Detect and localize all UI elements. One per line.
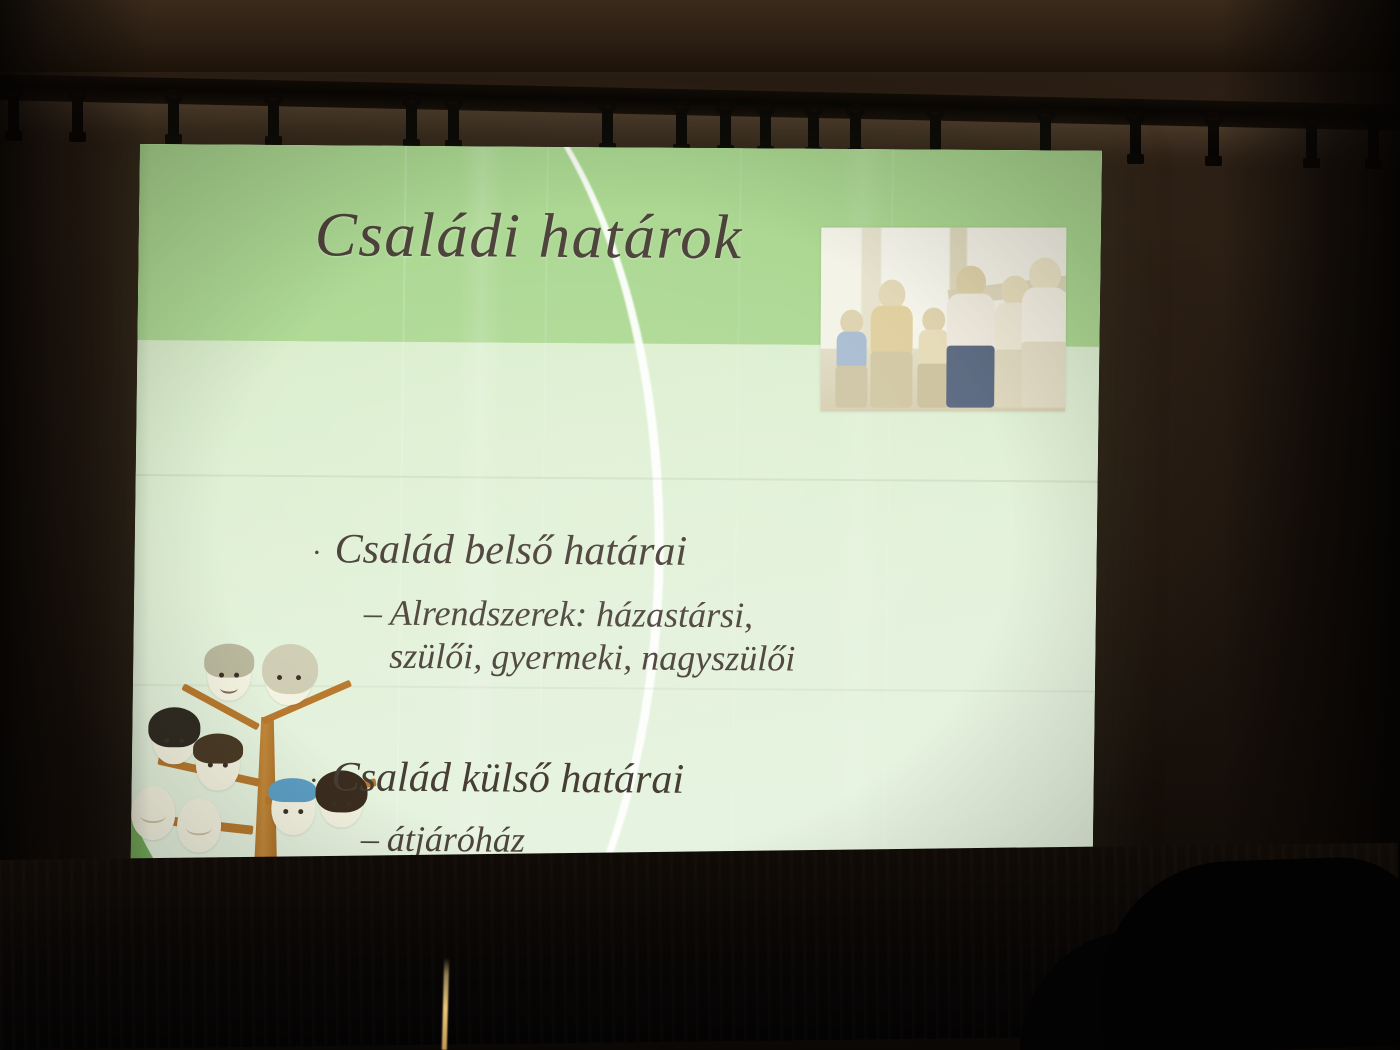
bullet-item: · Család belső határai [312, 525, 1013, 579]
curtain-ring [168, 99, 179, 139]
curtain-ring [676, 109, 687, 149]
curtain-ring [1130, 119, 1141, 159]
curtain-ring [850, 113, 861, 153]
slide-title: Családi határok [314, 203, 743, 269]
face-mouth [220, 683, 238, 694]
face-eye [277, 675, 282, 680]
photo-person-woman [868, 280, 915, 408]
face-hair [204, 643, 254, 677]
curtain-ring [602, 108, 613, 148]
person-legs [946, 346, 994, 408]
person-body [871, 306, 913, 354]
tree-face [265, 647, 314, 705]
face-eye [179, 738, 184, 743]
curtain-ring [808, 112, 819, 152]
sub-bullet-text: Alrendszerek: házastársi, szülői, gyerme… [389, 591, 796, 682]
face-eye [208, 762, 213, 767]
bullet-marker-icon: · [309, 763, 331, 799]
bullet-group-1: · Család belső határai – Alrendszerek: h… [311, 525, 1013, 683]
face-eye [219, 673, 224, 678]
person-body [947, 294, 995, 348]
curtain-ring [406, 104, 417, 144]
person-body [836, 332, 866, 368]
face-hair [148, 707, 201, 747]
curtain-ring [720, 110, 731, 150]
person-legs [870, 352, 912, 408]
photo-person-grandfather [1020, 258, 1066, 408]
curtain-ring [448, 105, 459, 145]
bullet-item: · Család külső határai [309, 753, 1010, 807]
bullet-text: Család belső határai [334, 525, 687, 577]
curtain-ring [268, 101, 279, 141]
projected-slide: Családi határok [130, 144, 1102, 919]
bullet-text: Család külső határai [331, 753, 684, 805]
sub-bullet-item: – Alrendszerek: házastársi, szülői, gyer… [363, 591, 1012, 683]
family-photo [820, 228, 1066, 412]
person-legs [835, 366, 867, 408]
face-eye [296, 675, 301, 680]
photo-person-man [944, 266, 997, 408]
tree-face [177, 798, 222, 852]
face-eye [164, 738, 169, 743]
room-scene: Családi határok [0, 0, 1400, 1050]
face-hair [262, 644, 319, 694]
person-legs [1021, 342, 1066, 408]
photo-person-child-left [834, 310, 869, 408]
bullet-marker-icon: · [312, 535, 334, 571]
face-eye [283, 809, 288, 814]
face-eye [298, 809, 303, 814]
face-hair [193, 733, 243, 763]
slide-canvas: Családi határok [130, 144, 1102, 919]
face-eye [234, 673, 239, 678]
curtain-ring [760, 111, 771, 151]
sub-bullet-marker-icon: – [364, 591, 391, 635]
curtain-ring [1208, 121, 1219, 161]
face-eye [223, 763, 228, 768]
person-body [1022, 288, 1067, 346]
tree-face [152, 710, 197, 764]
tree-face [207, 646, 252, 700]
face-mouth [186, 820, 212, 835]
tree-face [196, 736, 241, 790]
